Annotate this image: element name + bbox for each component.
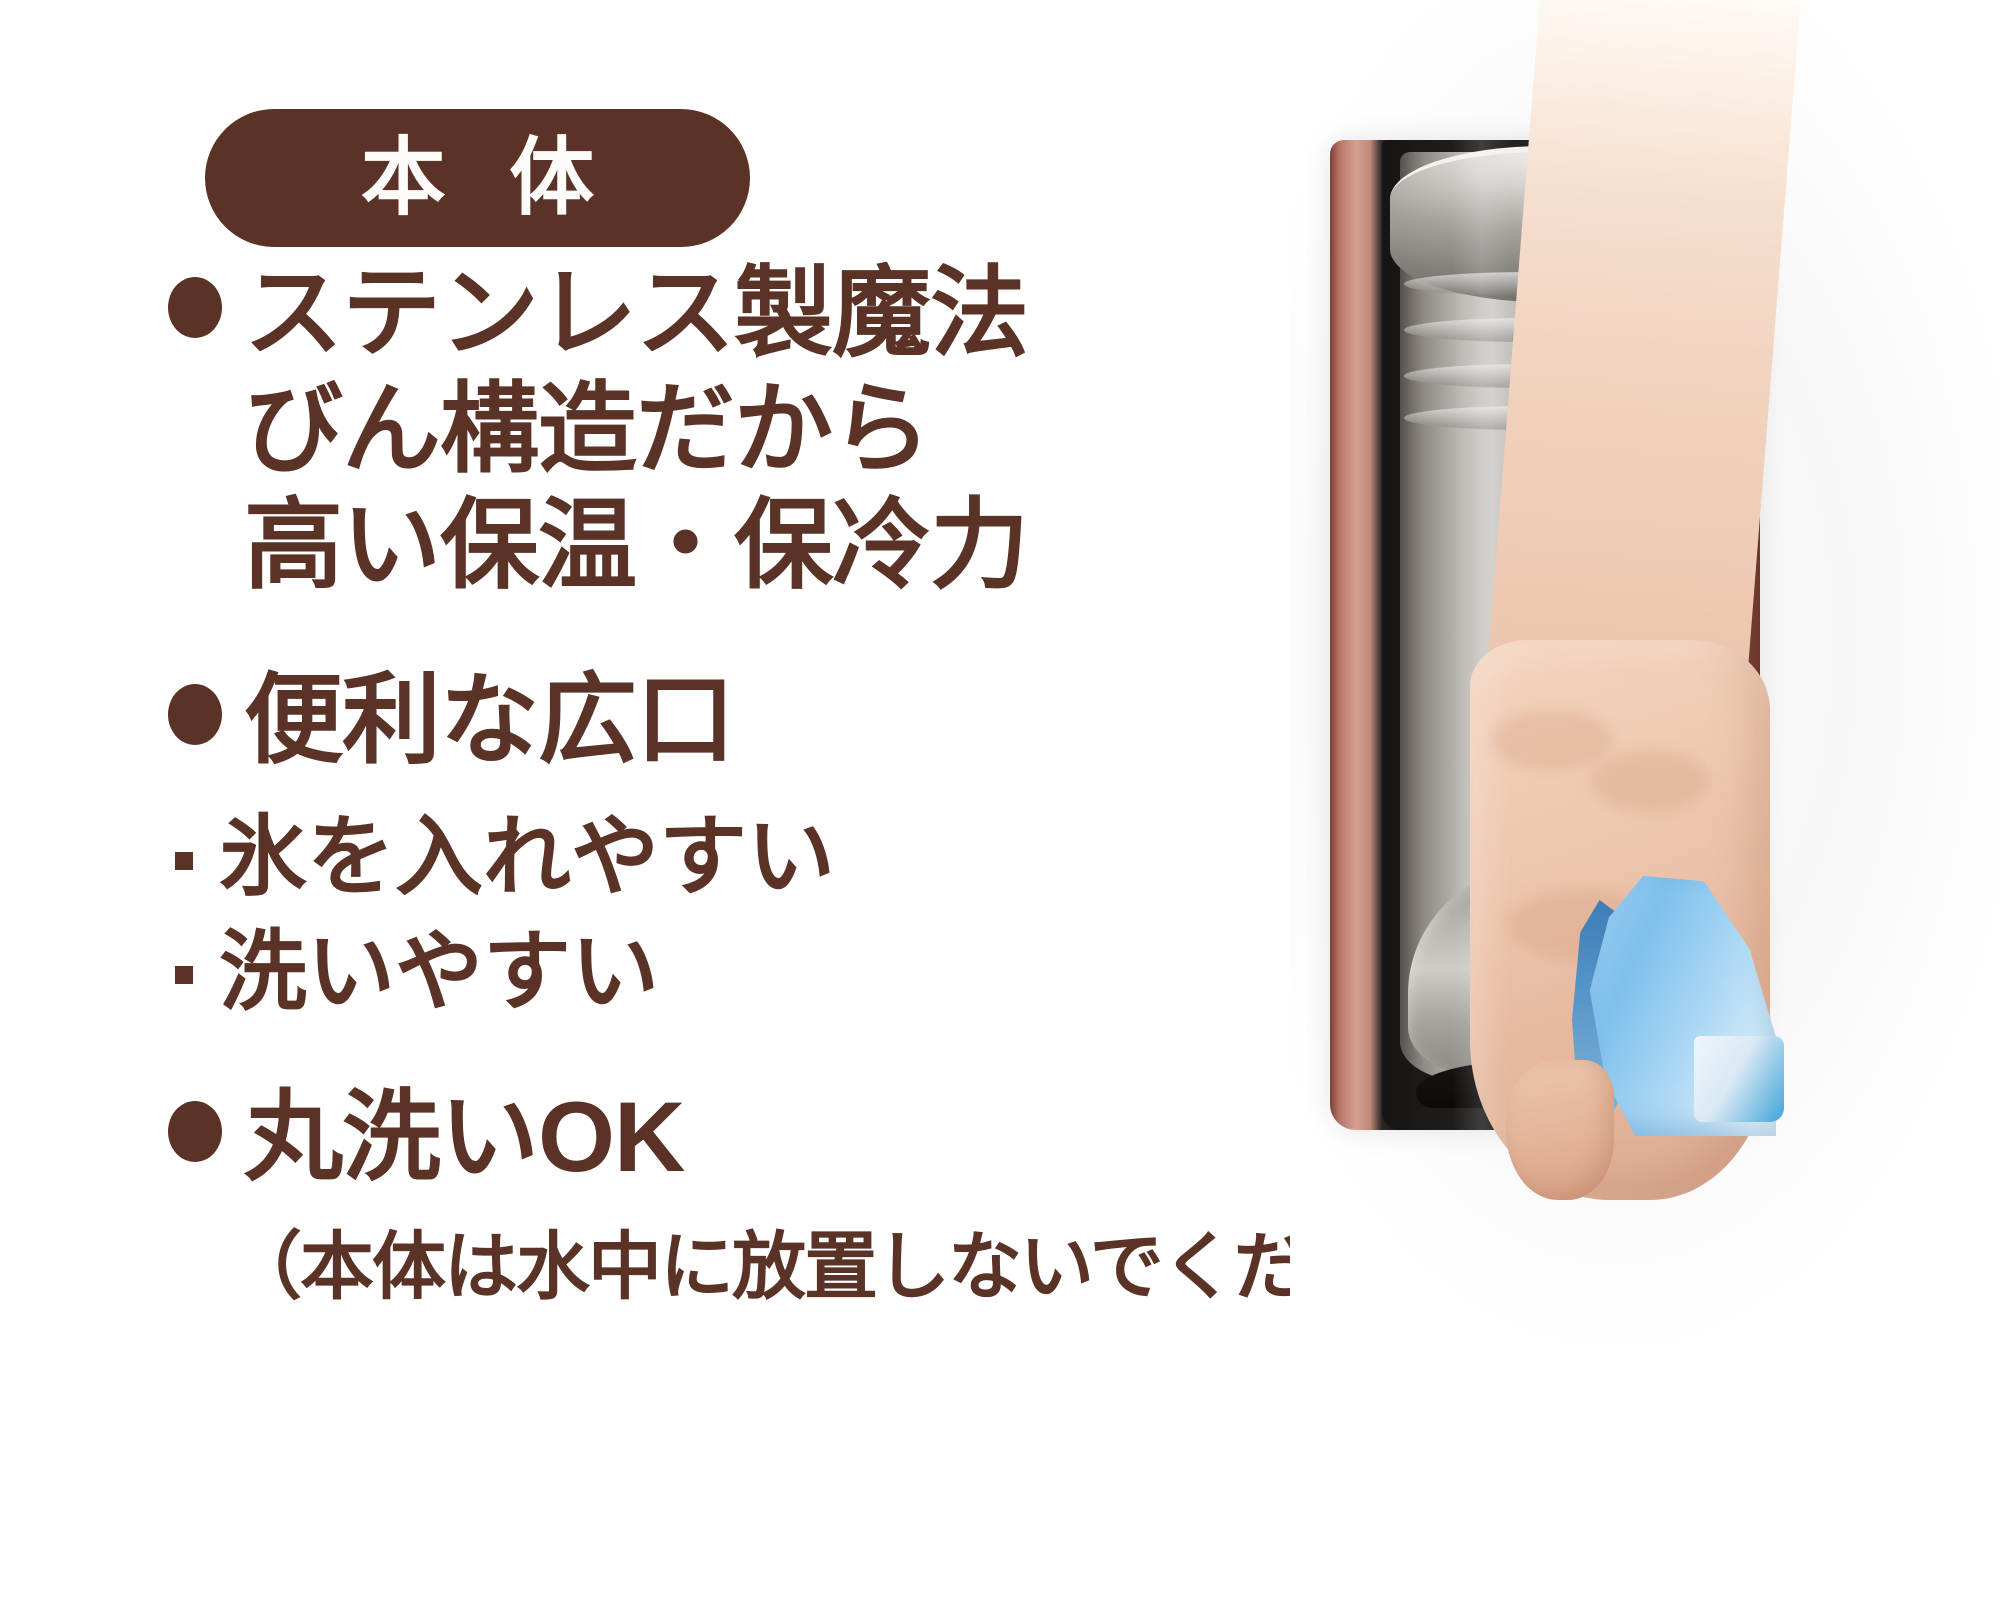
spacer xyxy=(0,1029,1290,1079)
filled-circle-bullet-icon xyxy=(168,1101,222,1162)
feature-line-1: 丸洗いOK xyxy=(244,1079,685,1195)
small-square-bullet-icon xyxy=(175,966,193,984)
feature-headline-row: 便利な広口 xyxy=(0,662,1290,778)
feature-headline-row: ステンレス製魔法 xyxy=(0,255,1290,371)
section-badge-label: 本 体 xyxy=(341,136,615,221)
feature-item-insulation: ステンレス製魔法 びん構造だから 高い保温・保冷力 xyxy=(0,255,1290,602)
feature-note: （本体は水中に放置しないでください。） xyxy=(0,1223,1290,1312)
sub-feature-label: 洗いやすい xyxy=(219,915,659,1029)
product-feature-panel: 本 体 ステンレス製魔法 びん構造だから 高い保温・保冷力 便利な広口 xyxy=(0,0,2000,1600)
section-badge: 本 体 xyxy=(205,109,750,247)
feature-line-1: ステンレス製魔法 xyxy=(244,255,1028,371)
feature-line-2: びん構造だから xyxy=(0,371,1290,487)
feature-item-wide-mouth: 便利な広口 氷を入れやすい 洗いやすい xyxy=(0,662,1290,1029)
sub-feature-label: 氷を入れやすい xyxy=(219,800,835,914)
feature-line-3: 高い保温・保冷力 xyxy=(0,487,1290,603)
sponge-scrub-pad xyxy=(1694,1036,1784,1122)
spacer xyxy=(0,602,1290,662)
human-thumb xyxy=(1506,1060,1614,1200)
knuckle-shading xyxy=(1590,750,1710,812)
small-square-bullet-icon xyxy=(175,852,193,870)
hand-washing-stainless-tumbler-photo xyxy=(1290,0,2000,1600)
feature-line-1: 便利な広口 xyxy=(244,662,734,778)
feature-list: ステンレス製魔法 びん構造だから 高い保温・保冷力 便利な広口 氷を入れやすい xyxy=(0,255,1290,1312)
spacer xyxy=(0,778,1290,800)
feature-headline-row: 丸洗いOK xyxy=(0,1079,1290,1195)
sub-feature-easy-clean: 洗いやすい xyxy=(0,915,1290,1029)
feature-item-washable: 丸洗いOK （本体は水中に放置しないでください。） xyxy=(0,1079,1290,1312)
sub-feature-ice: 氷を入れやすい xyxy=(0,800,1290,914)
knuckle-shading xyxy=(1492,710,1612,770)
filled-circle-bullet-icon xyxy=(168,684,222,745)
feature-text-column: 本 体 ステンレス製魔法 びん構造だから 高い保温・保冷力 便利な広口 xyxy=(0,0,1290,1600)
spacer xyxy=(0,1195,1290,1223)
filled-circle-bullet-icon xyxy=(168,277,222,338)
